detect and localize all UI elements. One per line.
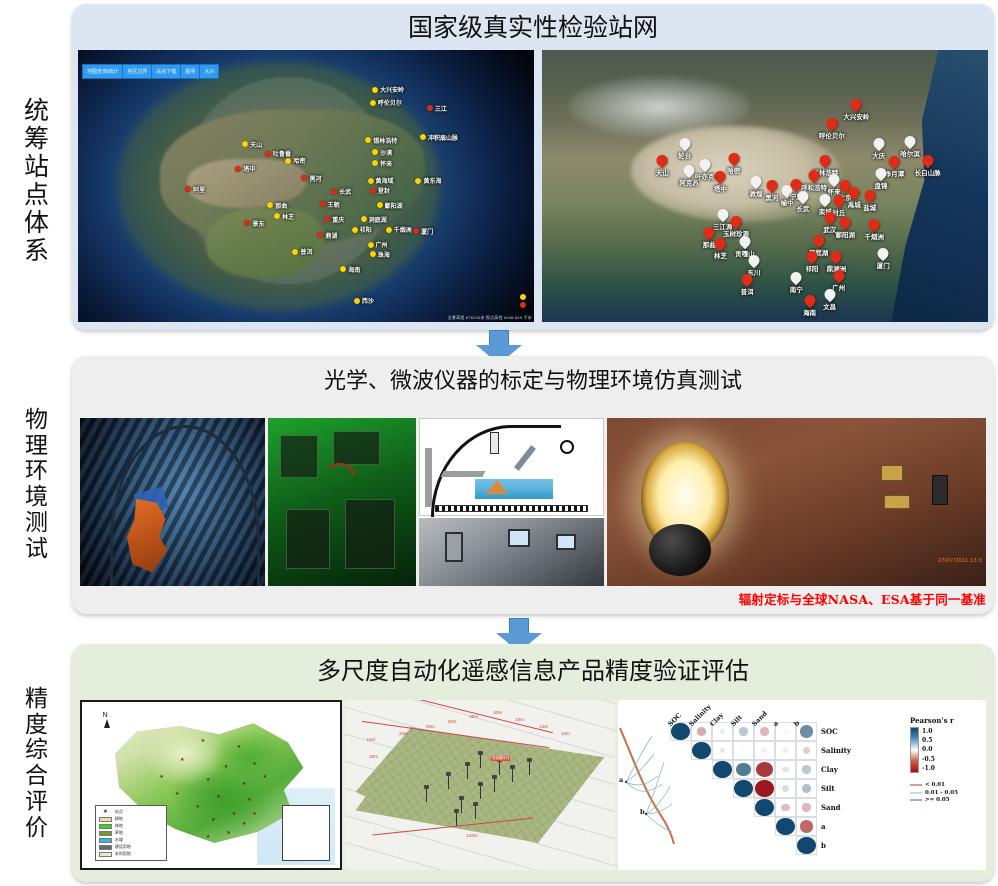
correlation-row-label: Silt [821, 784, 835, 793]
legend-row: 耕地 [99, 816, 163, 822]
colorbar-tick: 0.5 [922, 736, 984, 745]
toolbar-btn-3[interactable]: 图例 [181, 65, 200, 78]
map-pin[interactable]: 封丘 [833, 195, 844, 206]
correlation-ellipse [783, 729, 788, 734]
correlation-cell-empty [670, 741, 691, 760]
globe-station[interactable]: 王朝 [320, 200, 340, 209]
globe-station[interactable]: 林芝 [274, 212, 294, 221]
map-pin[interactable]: 锡林浩特 [820, 155, 831, 166]
pin-bubble [802, 292, 818, 308]
side-char: 价 [25, 816, 49, 842]
correlation-ellipse [802, 765, 811, 773]
pvalue-label: >= 0.05 [925, 797, 950, 803]
figure-3d-sampling-layout[interactable]: 20m20m20m40m40m10m10m10m14m20m120m 传感器阵列 [345, 700, 615, 870]
globe-station[interactable]: 大兴安岭 [372, 85, 404, 94]
correlation-cell [775, 760, 796, 779]
photo-anechoic-chamber[interactable] [80, 418, 265, 586]
map-pin[interactable]: 盘锦 [875, 168, 886, 179]
globe-station[interactable]: 冲积扇山脉 [420, 133, 458, 142]
station-dot [242, 141, 248, 147]
map-station-star: ★ [226, 831, 230, 835]
sensor-head [492, 775, 497, 779]
globe-station[interactable]: 西沙 [354, 296, 374, 305]
correlation-grid [670, 722, 817, 855]
pvalue-label: 0.01 - 0.05 [925, 790, 958, 796]
map-pin[interactable]: 普洱 [742, 274, 753, 285]
sensor-head [510, 765, 515, 769]
section-accuracy-validation: 多尺度自动化遥感信息产品精度验证评估 N ★★★★★★★★★★★★★★★★★★★… [72, 644, 994, 882]
correlation-row [670, 779, 817, 798]
globe-station[interactable]: 塔中 [235, 164, 255, 173]
pin-bubble [715, 207, 731, 223]
map-pin[interactable]: 大兴安岭 [851, 99, 862, 110]
pin-bubble [846, 185, 862, 201]
sensor-post [426, 788, 427, 802]
correlation-ellipse [782, 767, 788, 773]
map-pin[interactable]: 呼伦贝尔 [826, 118, 837, 129]
pin-bubble [817, 192, 833, 208]
pin-bubble [902, 133, 918, 149]
correlation-cell [754, 779, 775, 798]
correlation-row [670, 836, 817, 855]
correlation-ellipse [697, 727, 706, 736]
map-pin[interactable]: 哈密 [728, 153, 739, 164]
correlation-ellipse [736, 763, 751, 777]
map-pin[interactable]: 鄱阳湖 [840, 217, 851, 228]
figure-landcover-map[interactable]: N ★★★★★★★★★★★★★★★★★★★ ★站点耕地林地草地水域建设用地未利用… [80, 700, 342, 870]
station-dot [377, 202, 383, 208]
map-pin[interactable]: 武汉 [824, 212, 835, 223]
schematic-ring [560, 440, 574, 454]
correlation-cell [775, 779, 796, 798]
north-arrow-icon: N [103, 712, 110, 728]
correlation-cell [796, 836, 817, 855]
map-toolbar[interactable]: 地图查询/统计 地区边界 站点下载 图例 大兴 [82, 64, 219, 79]
side-label-bot: 精 度 综 合 评 价 [8, 650, 66, 878]
map-pin[interactable]: 厦门 [878, 248, 889, 259]
map-pin[interactable]: 祁阳 [806, 251, 817, 262]
correlation-cell-empty [670, 760, 691, 779]
pvalue-row: 0.01 - 0.05 [910, 790, 958, 796]
side-char: 精 [25, 687, 49, 713]
legend-label: 林地 [115, 823, 123, 829]
side-char: 度 [25, 713, 49, 739]
globe-station[interactable]: 呼伦贝尔 [370, 98, 402, 107]
radiometric-caption: 辐射定标与全球NASA、ESA基于同一基准 [739, 589, 986, 608]
globe-station[interactable]: 沙漠 [372, 148, 392, 157]
sensor-post [456, 812, 457, 826]
bench-rack [445, 532, 463, 562]
sensor-post [512, 768, 513, 782]
correlation-row-label: Clay [821, 765, 838, 774]
globe-station[interactable]: 厦门 [413, 227, 433, 236]
pin-bubble [713, 235, 729, 251]
correlation-row-label: Salinity [821, 746, 851, 755]
globe-station[interactable]: 黄东海 [415, 176, 441, 185]
correlation-cell-empty [670, 779, 691, 798]
correlation-cell [733, 779, 754, 798]
globe-station[interactable]: 景东 [244, 219, 264, 228]
sensor-post [475, 805, 476, 819]
correlation-cell [796, 760, 817, 779]
pin-label: 黑河 [765, 192, 778, 202]
map-pin[interactable]: 文昌 [824, 289, 835, 300]
toolbar-btn-1[interactable]: 地区边界 [123, 65, 152, 78]
side-label-mid: 物 理 环 境 测 试 [8, 362, 66, 608]
station-dot [301, 175, 307, 181]
correlation-cell [775, 741, 796, 760]
map-pin[interactable]: 海南 [804, 295, 815, 306]
correlation-ellipse [797, 837, 816, 855]
pin-bubble [831, 193, 847, 209]
station-label: 登封 [378, 186, 390, 195]
toolbar-btn-0[interactable]: 地图查询/统计 [83, 65, 123, 78]
schematic-terrain [486, 480, 508, 494]
station-dot [292, 249, 298, 255]
instrument-rig-1 [881, 465, 903, 481]
map-pin[interactable]: 黑河 [766, 180, 777, 191]
map-pin[interactable]: 东川 [748, 255, 759, 266]
correlation-cell-empty [691, 798, 712, 817]
globe-station[interactable]: 祁阳 [352, 225, 372, 234]
correlation-cell [775, 798, 796, 817]
station-dot [372, 160, 378, 166]
station-label: 阿里 [193, 185, 205, 194]
correlation-cell-empty [754, 817, 775, 836]
globe-station[interactable]: 黄海域 [368, 176, 394, 185]
pin-label: 普洱 [741, 286, 754, 296]
map-station-star: ★ [252, 762, 256, 766]
pin-bubble [788, 269, 804, 285]
legend-row: 水域 [99, 837, 163, 843]
station-dot [420, 134, 426, 140]
map-pin[interactable]: 栾城 [820, 194, 831, 205]
bench-monitor-2 [556, 534, 576, 550]
station-dot [331, 189, 337, 195]
station-label: 重庆 [332, 215, 344, 224]
globe-legend-dots [520, 294, 526, 310]
map-pin[interactable]: 呼和浩特 [809, 170, 820, 181]
globe-station[interactable]: 鼎湖 [317, 231, 337, 240]
globe-station[interactable]: 天山 [242, 140, 262, 149]
correlation-cell-empty [691, 817, 712, 836]
correlation-row-label: Sand [821, 803, 841, 812]
china-satellite-map[interactable]: 大兴安岭呼伦贝尔大庆哈尔滨净月潭长白山脉锡林浩特盘锦呼和浩特怀来北京榆中黑河宁夏… [542, 50, 988, 322]
schematic-ground [435, 505, 589, 512]
map-pin[interactable]: 鼎湖洲 [831, 251, 842, 262]
east-ocean [870, 50, 988, 322]
map-station-star: ★ [196, 805, 200, 809]
station-label: 冲积扇山脉 [428, 133, 458, 142]
map-pin[interactable]: 三江源 [717, 209, 728, 220]
station-dot [185, 186, 191, 192]
sensor-post [461, 799, 462, 813]
globe-station[interactable]: 珠海 [370, 250, 390, 259]
correlation-cell-empty [670, 817, 691, 836]
globe-station[interactable]: 普洱 [292, 247, 312, 256]
correlation-ellipse [692, 742, 711, 760]
section-title-mid: 光学、微波仪器的标定与物理环境仿真测试 [72, 356, 994, 400]
correlation-cell [754, 760, 775, 779]
map-pin[interactable]: 轮台 [679, 138, 690, 149]
globe-station[interactable]: 锡林浩特 [365, 136, 397, 145]
pin-bubble [748, 174, 764, 190]
map-pin[interactable]: 林芝 [715, 238, 726, 249]
correlation-cell-empty [733, 817, 754, 836]
top-map-panels: 地图查询/统计 地区边界 站点下载 图例 大兴 大兴安岭呼伦贝尔三江锡林浩特冲积… [78, 50, 988, 322]
pin-bubble [920, 152, 936, 168]
side-char: 理 [25, 434, 49, 460]
map-pin[interactable]: 敦煌 [751, 176, 762, 187]
station-label: 祁阳 [360, 225, 372, 234]
map-pin[interactable]: 塔中 [715, 171, 726, 182]
map-station-star: ★ [242, 782, 246, 786]
station-dot [354, 298, 360, 304]
globe-station[interactable]: 洞庭湖 [361, 215, 387, 224]
map-pin[interactable]: 盐城 [864, 190, 875, 201]
station-label: 呼伦贝尔 [378, 98, 402, 107]
side-char: 站 [24, 153, 50, 181]
station-dot [372, 87, 378, 93]
legend-label: 耕地 [115, 816, 123, 822]
map-pin[interactable]: 大庆 [873, 138, 884, 149]
pin-bubble [873, 166, 889, 182]
map-pin[interactable]: 玉树珍源 [731, 216, 742, 227]
pin-label: 武汉 [823, 224, 836, 234]
sensor-post [480, 754, 481, 768]
sensor-head [459, 796, 464, 800]
photo-green-laser-lab[interactable] [268, 418, 416, 586]
station-dot [370, 188, 376, 194]
pin-label: 文昌 [823, 301, 836, 311]
correlation-ellipse [720, 748, 726, 754]
globe-map[interactable]: 地图查询/统计 地区边界 站点下载 图例 大兴 大兴安岭呼伦贝尔三江锡林浩特冲积… [78, 50, 534, 322]
correlation-cell [775, 817, 796, 836]
map-inset-southsea [282, 805, 330, 861]
station-dot [413, 228, 419, 234]
correlation-cell [691, 741, 712, 760]
dimension-label: 120m [467, 833, 478, 838]
map-pin[interactable]: 天山 [657, 155, 668, 166]
legend-label: 水域 [115, 837, 123, 843]
station-label: 长武 [339, 187, 351, 196]
station-label: 锡林浩特 [373, 136, 397, 145]
pin-bubble [811, 233, 827, 249]
correlation-ellipse [782, 785, 789, 791]
pin-bubble [849, 97, 865, 113]
correlation-cell-empty [775, 836, 796, 855]
station-label: 黄海域 [376, 176, 394, 185]
pin-label: 长白山脉 [915, 167, 941, 177]
map-pin[interactable]: 广州 [833, 270, 844, 281]
toolbar-btn-4[interactable]: 大兴 [200, 65, 218, 78]
map-pin[interactable]: 怀来 [829, 174, 840, 185]
colorbar-tick: 0.0 [922, 745, 984, 754]
legend-swatch [99, 824, 112, 829]
pin-label: 叶亦克 [695, 171, 715, 181]
correlation-ellipse [755, 799, 774, 817]
sensor-post [529, 761, 530, 775]
map-pin[interactable]: 长白山脉 [922, 155, 933, 166]
photo-optical-schematic[interactable] [419, 418, 604, 586]
sensor-head [446, 772, 451, 776]
correlation-cell-empty [712, 836, 733, 855]
map-pin[interactable]: 贡嘎山 [739, 236, 750, 247]
toolbar-btn-2[interactable]: 站点下载 [152, 65, 181, 78]
map-station-star: ★ [232, 812, 236, 816]
correlation-ellipse [802, 784, 811, 793]
correlation-ellipse [781, 804, 789, 812]
schematic-detector [490, 432, 499, 454]
map-pin[interactable]: 南宁 [791, 272, 802, 283]
map-pin[interactable]: 那曲 [704, 227, 715, 238]
globe-station[interactable]: 哈密 [285, 156, 305, 165]
station-label: 大兴安岭 [380, 85, 404, 94]
legend-row: 建设用地 [99, 844, 163, 850]
legend-swatch [99, 852, 112, 857]
side-char: 点 [24, 181, 50, 209]
legend-swatch [99, 838, 112, 843]
colorbar [910, 727, 919, 773]
colorbar-tick: 1.0 [922, 727, 984, 736]
globe-station[interactable]: 那曲 [267, 201, 287, 210]
side-char: 试 [25, 537, 49, 563]
pin-bubble [795, 189, 811, 205]
correlation-cell-empty [691, 779, 712, 798]
integrating-sphere [649, 524, 711, 576]
map-station-star: ★ [237, 745, 241, 749]
legend-swatch [99, 831, 112, 836]
pvalue-label: < 0.01 [925, 782, 945, 788]
sensor-post [499, 761, 500, 775]
corr-canvas: a b SOCSalinityClaySiltSandab SOCSalinit… [618, 700, 986, 870]
north-arrow-triangle [104, 719, 110, 728]
dimension-label: 40m [494, 710, 503, 715]
station-dot [244, 220, 250, 226]
pin-bubble [871, 136, 887, 152]
globe-station[interactable]: 阿里 [185, 185, 205, 194]
pin-label: 千烟洲 [865, 231, 885, 241]
side-char: 评 [25, 790, 49, 816]
map-pin[interactable]: 宁夏 [791, 179, 802, 190]
station-label: 洞庭湖 [369, 215, 387, 224]
north-label: N [103, 712, 108, 719]
pin-label: 禹城 [848, 199, 861, 209]
globe-station[interactable]: 鄱阳湖 [377, 201, 403, 210]
pin-bubble [737, 234, 753, 250]
map-pin[interactable]: 净月潭 [889, 156, 900, 167]
correlation-cell-empty [733, 836, 754, 855]
pin-bubble [764, 178, 780, 194]
map-station-star: ★ [206, 835, 210, 839]
map-pin[interactable]: 千烟洲 [869, 219, 880, 230]
legend-label: 站点 [115, 809, 123, 815]
photo-solar-simulator[interactable]: 27/07/2011 13:3 [607, 418, 986, 586]
correlation-cell [796, 798, 817, 817]
pin-label: 轮台 [678, 150, 691, 160]
station-dot [340, 266, 346, 272]
globe-station[interactable]: 长武 [331, 187, 351, 196]
correlation-ellipse [720, 729, 726, 734]
legend-label: 未利用地 [115, 851, 131, 857]
correlation-cell [712, 741, 733, 760]
pin-bubble [746, 253, 762, 269]
side-char: 综 [25, 738, 49, 764]
globe-station[interactable]: 怀来 [372, 159, 392, 168]
colorbar-tick: -1.0 [922, 764, 984, 773]
station-label: 厦门 [421, 227, 433, 236]
globe-station[interactable]: 广州 [368, 240, 388, 249]
pin-label: 塔中 [714, 183, 727, 193]
globe-station[interactable]: 三江 [427, 104, 447, 113]
globe-station[interactable]: 重庆 [324, 215, 344, 224]
pin-label: 南宁 [790, 284, 803, 294]
correlation-row-label: b [821, 841, 826, 850]
correlation-cell-empty [691, 760, 712, 779]
globe-station[interactable]: 黑河 [301, 174, 321, 183]
pin-label: 净月潭 [885, 168, 905, 178]
pin-label: 呼伦贝尔 [819, 130, 845, 140]
correlation-ellipse [755, 780, 773, 797]
side-char: 体 [24, 209, 50, 237]
correlation-cell [796, 779, 817, 798]
pin-bubble [822, 209, 838, 225]
dimension-label: 20m [426, 724, 435, 729]
station-label: 塔中 [243, 164, 255, 173]
station-dot [386, 227, 392, 233]
legend-swatch [99, 817, 112, 822]
map-pin[interactable]: 叶亦克 [699, 159, 710, 170]
figure-correlation-matrix[interactable]: a b SOCSalinityClaySiltSandab SOCSalinit… [618, 700, 986, 870]
station-label: 普洱 [300, 247, 312, 256]
lab-rack-2 [333, 431, 380, 465]
pin-bubble [697, 156, 713, 172]
map-pin[interactable]: 哈尔滨 [904, 136, 915, 147]
correlation-row [670, 741, 817, 760]
pin-bubble [837, 215, 853, 231]
map-pin[interactable]: 长武 [797, 191, 808, 202]
side-char: 合 [25, 764, 49, 790]
bench-monitor-1 [508, 529, 530, 547]
correlation-row [670, 798, 817, 817]
pin-label: 林芝 [714, 250, 727, 260]
map-pin[interactable]: 洞庭湖 [813, 235, 824, 246]
pin-label: 祁阳 [805, 263, 818, 273]
dimension-label: 14m [367, 737, 376, 742]
sensor-head [454, 809, 459, 813]
correlation-ellipse [741, 748, 745, 752]
globe-station[interactable]: 千烟洲 [386, 225, 412, 234]
station-label: 景东 [252, 219, 264, 228]
map-station-star: ★ [180, 758, 184, 762]
map-station-star: ★ [216, 795, 220, 799]
globe-station[interactable]: 登封 [370, 186, 390, 195]
map-pin[interactable]: 阿克苏 [684, 165, 695, 176]
station-label: 广州 [376, 240, 388, 249]
legend-label: 建设用地 [115, 844, 131, 850]
pin-label: 盐城 [863, 202, 876, 212]
legend-row: 林地 [99, 823, 163, 829]
station-label: 哈密 [293, 156, 305, 165]
globe-station[interactable]: 海南 [340, 265, 360, 274]
colorbar-tick: -0.5 [922, 755, 984, 764]
pin-bubble [806, 167, 822, 183]
station-label: 鼎湖 [325, 231, 337, 240]
sensor-post [448, 775, 449, 789]
pin-label: 哈密 [727, 165, 740, 175]
map-pin[interactable]: 禹城 [849, 187, 860, 198]
station-label: 怀来 [380, 159, 392, 168]
